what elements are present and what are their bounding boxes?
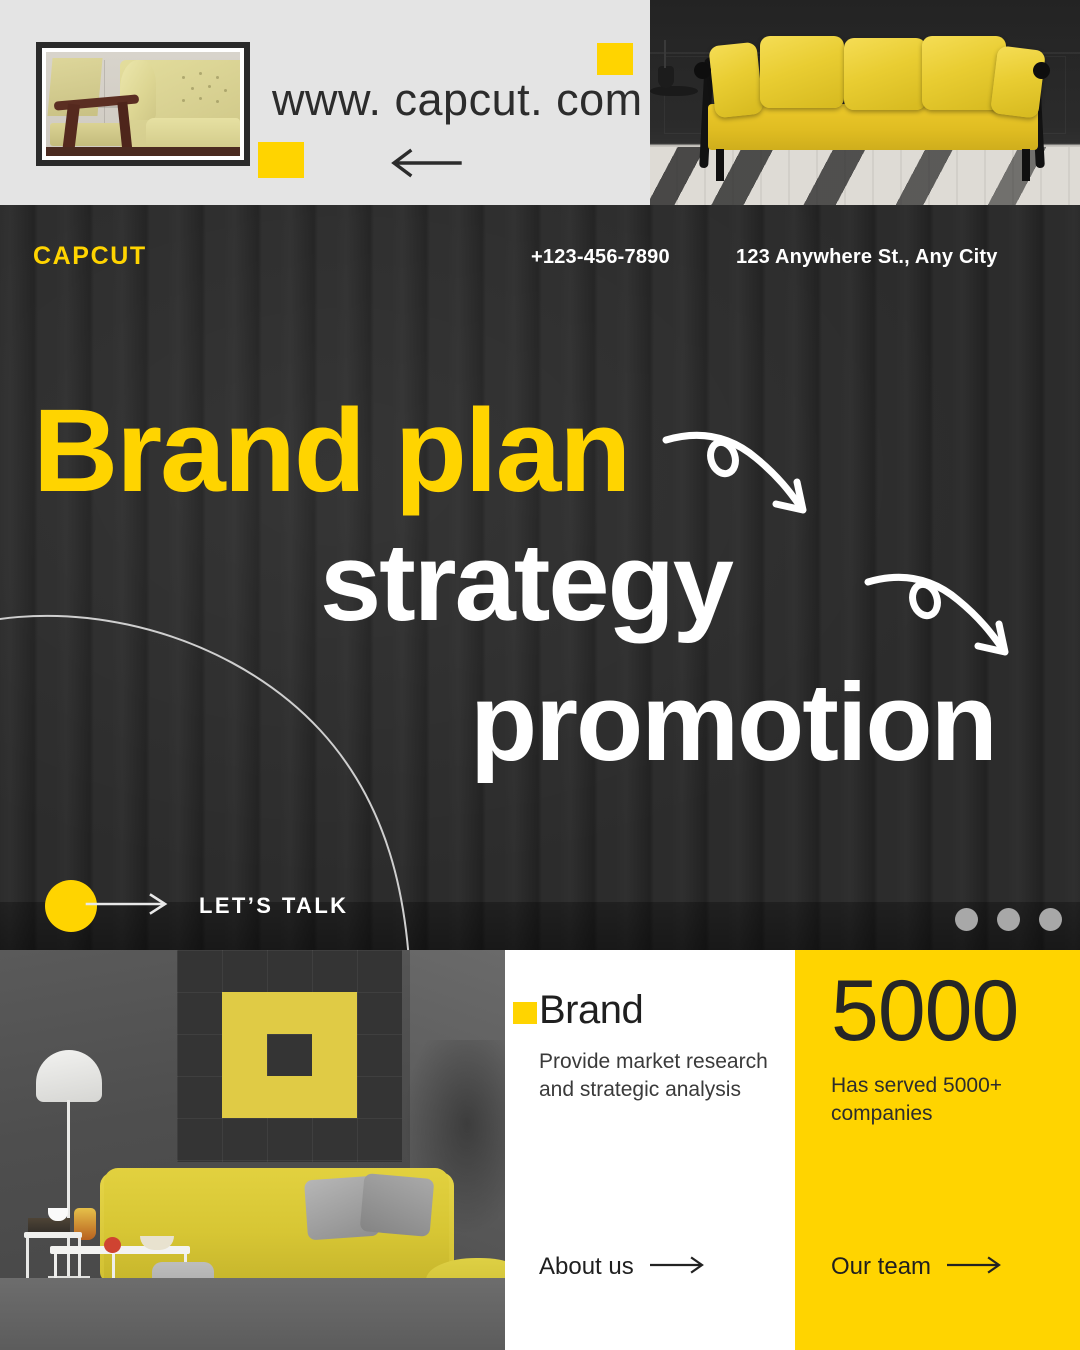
bottom-row: Brand Provide market research and strate… <box>0 950 1080 1350</box>
wall-art-panel <box>177 950 402 1162</box>
carousel-dot-2[interactable] <box>997 908 1020 931</box>
arrow-left-icon[interactable] <box>388 148 464 178</box>
carousel-dot-3[interactable] <box>1039 908 1062 931</box>
carousel-dot-1[interactable] <box>955 908 978 931</box>
contact-address[interactable]: 123 Anywhere St., Any City <box>736 246 998 269</box>
cta-label: LET’S TALK <box>199 893 348 919</box>
area-rug <box>0 1278 505 1350</box>
armchair-image <box>46 52 240 156</box>
brand-card-description: Provide market research and strategic an… <box>539 1048 789 1103</box>
framed-armchair-photo <box>36 42 250 166</box>
brand-logo[interactable]: CAPCUT <box>33 242 147 271</box>
curved-arrow-loop-icon-2 <box>862 560 1042 670</box>
arrow-right-icon <box>85 892 173 921</box>
stat-number: 5000 <box>831 968 1018 1054</box>
sofa-shape <box>120 60 240 156</box>
photo-mat <box>42 48 244 160</box>
our-team-label: Our team <box>831 1253 931 1281</box>
lets-talk-cta[interactable]: LET’S TALK <box>45 878 348 934</box>
about-us-link[interactable]: About us <box>539 1253 708 1281</box>
top-band: www. capcut. com <box>0 0 1080 205</box>
brand-info-card: Brand Provide market research and strate… <box>505 950 795 1350</box>
carousel-dots[interactable] <box>955 908 1062 931</box>
headline-line-1: Brand plan <box>33 392 629 510</box>
arrow-right-icon <box>650 1253 708 1281</box>
about-us-label: About us <box>539 1253 634 1281</box>
yellow-sofa-photo <box>650 0 1080 205</box>
curved-arrow-loop-icon <box>660 418 840 528</box>
headline-line-3: promotion <box>470 668 996 778</box>
card-marker-square <box>513 1002 537 1024</box>
floor-lamp <box>36 1050 102 1102</box>
stat-caption: Has served 5000+ companies <box>831 1072 1041 1127</box>
stat-card: 5000 Has served 5000+ companies Our team <box>795 950 1080 1350</box>
accent-square-lower <box>258 142 304 178</box>
brand-card-title: Brand <box>539 988 643 1033</box>
contact-phone[interactable]: +123-456-7890 <box>531 246 670 269</box>
poster-canvas: www. capcut. com <box>0 0 1080 1350</box>
headline-line-2: strategy <box>320 528 732 638</box>
website-url[interactable]: www. capcut. com <box>272 74 643 126</box>
our-team-link[interactable]: Our team <box>831 1253 1005 1281</box>
accent-square-upper <box>597 43 633 75</box>
arrow-right-icon <box>947 1253 1005 1281</box>
living-room-interior-photo <box>0 950 505 1350</box>
